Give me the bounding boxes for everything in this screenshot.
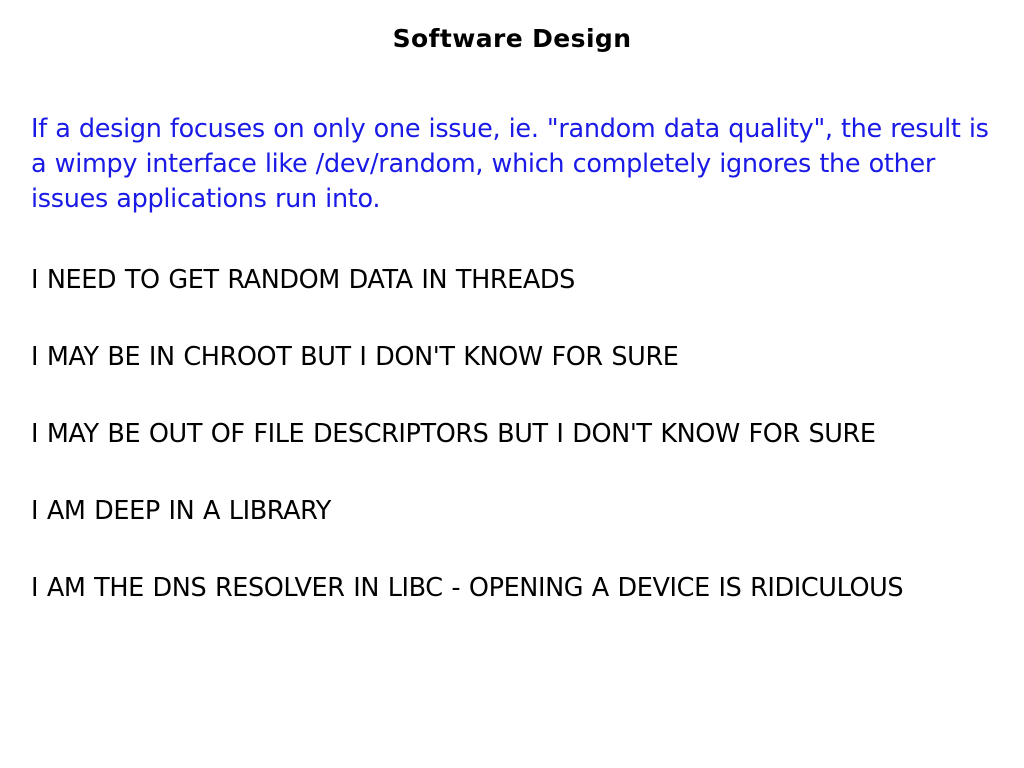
paragraph-file-descriptors: I MAY BE OUT OF FILE DESCRIPTORS BUT I D… (31, 417, 899, 452)
paragraph-threads: I NEED TO GET RANDOM DATA IN THREADS (31, 263, 997, 298)
page-title: Software Design (0, 24, 1024, 53)
paragraph-library: I AM DEEP IN A LIBRARY (31, 494, 997, 529)
paragraph-chroot: I MAY BE IN CHROOT BUT I DON'T KNOW FOR … (31, 340, 997, 375)
paragraph-commentary: If a design focuses on only one issue, i… (31, 112, 997, 217)
paragraph-dns-resolver: I AM THE DNS RESOLVER IN LIBC - OPENING … (31, 571, 909, 606)
slide-canvas: Software Design If a design focuses on o… (0, 0, 1024, 768)
slide-body: If a design focuses on only one issue, i… (31, 112, 997, 606)
